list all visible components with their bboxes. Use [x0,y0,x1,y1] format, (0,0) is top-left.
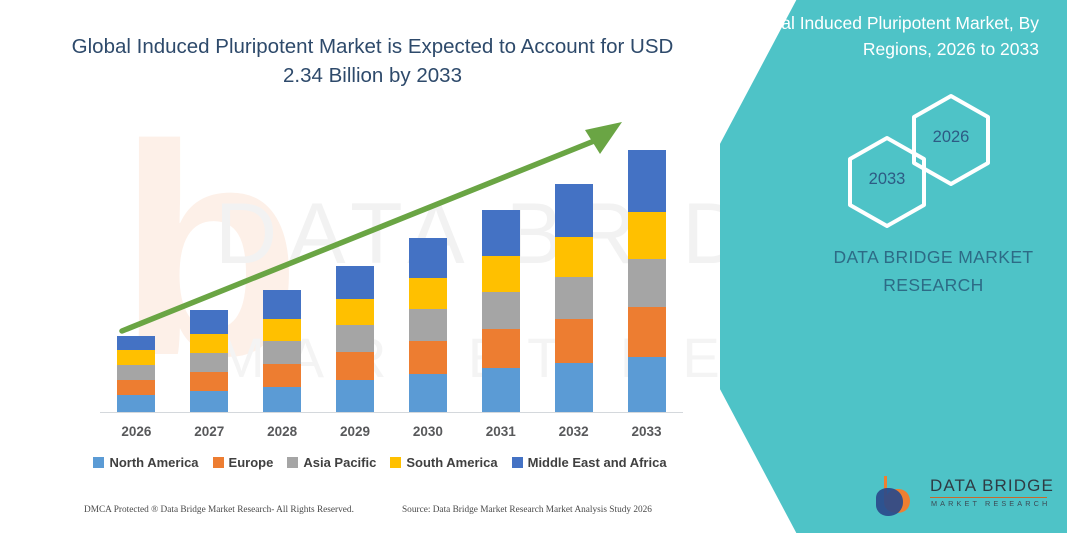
bar-2033 [628,150,666,412]
bar-segment [117,380,155,395]
bar-segment [336,352,374,380]
x-axis-label-2032: 2032 [538,424,610,439]
bar-segment [117,336,155,350]
panel-brand-line2: RESEARCH [883,275,983,295]
x-axis-label-2028: 2028 [246,424,318,439]
x-axis-label-2027: 2027 [173,424,245,439]
bar-segment [482,256,520,292]
x-axis-line [100,412,683,413]
bar-segment [482,368,520,412]
bar-segment [628,259,666,307]
x-axis-label-2030: 2030 [392,424,464,439]
legend-label: Middle East and Africa [528,455,667,470]
bar-segment [190,334,228,353]
bar-2032 [555,184,593,412]
x-axis-label-2031: 2031 [465,424,537,439]
bar-segment [555,184,593,237]
bar-segment [336,299,374,325]
footer-copyright: DMCA Protected ® Data Bridge Market Rese… [84,505,354,515]
legend-swatch-icon [512,457,523,468]
bar-segment [409,341,447,374]
hexagon-2033: 2033 [844,134,930,230]
bar-segment [409,238,447,278]
legend-label: North America [109,455,198,470]
legend-item-middle-east-and-africa[interactable]: Middle East and Africa [512,455,667,470]
legend-swatch-icon [390,457,401,468]
legend-label: Asia Pacific [303,455,376,470]
bar-segment [336,380,374,412]
hexagon-group: 2026 2033 [826,92,1026,222]
x-axis-label-2029: 2029 [319,424,391,439]
bar-segment [117,365,155,380]
bar-2028 [263,290,301,412]
bar-segment [117,350,155,365]
bar-2030 [409,238,447,412]
bar-segment [555,277,593,319]
bar-segment [336,266,374,299]
footer: DMCA Protected ® Data Bridge Market Rese… [0,505,720,523]
bar-segment [555,237,593,277]
bar-segment [190,353,228,372]
logo-name: DATA BRIDGE [930,476,1054,496]
logo-tagline: MARKET RESEARCH [931,499,1050,508]
bar-segment [190,391,228,412]
legend-swatch-icon [93,457,104,468]
legend-item-south-america[interactable]: South America [390,455,497,470]
hexagon-2033-label: 2033 [844,170,930,189]
bar-segment [263,290,301,319]
panel-brand-line1: DATA BRIDGE MARKET [833,247,1033,267]
bar-segment [409,278,447,309]
bar-segment [117,395,155,412]
legend-label: South America [406,455,497,470]
legend-swatch-icon [287,457,298,468]
x-axis-label-2026: 2026 [100,424,172,439]
panel-title: Global Induced Pluripotent Market, By Re… [739,10,1039,62]
bar-segment [190,310,228,334]
bar-segment [555,319,593,363]
dbmr-logo: DATA BRIDGE MARKET RESEARCH [872,472,1047,520]
bar-segment [555,363,593,412]
bar-2026 [117,336,155,412]
chart-legend: North AmericaEuropeAsia PacificSouth Ame… [0,455,760,470]
legend-label: Europe [229,455,274,470]
logo-mark-icon [872,472,924,520]
bar-segment [628,307,666,357]
logo-divider [930,497,1047,498]
x-axis-label-2033: 2033 [611,424,683,439]
bar-segment [263,364,301,387]
bar-segment [482,210,520,256]
footer-source: Source: Data Bridge Market Research Mark… [402,505,652,515]
bar-segment [628,150,666,212]
bar-segment [409,309,447,341]
bar-segment [409,374,447,412]
bar-2029 [336,266,374,412]
legend-item-asia-pacific[interactable]: Asia Pacific [287,455,376,470]
bar-segment [482,329,520,368]
legend-item-north-america[interactable]: North America [93,455,198,470]
bar-2031 [482,210,520,412]
bar-segment [263,319,301,341]
bar-segment [482,292,520,329]
bar-segment [190,372,228,391]
x-axis-labels: 20262027202820292030203120322033 [100,424,683,446]
bar-segment [628,212,666,259]
bar-segment [336,325,374,352]
bar-segment [263,341,301,364]
bar-2027 [190,310,228,412]
legend-swatch-icon [213,457,224,468]
bar-segment [263,387,301,412]
infographic-page: b DATA BRIDGE MARKET RESEARCH Global Ind… [0,0,1067,533]
legend-item-europe[interactable]: Europe [213,455,274,470]
chart-plot-area: 20262027202820292030203120322033 [0,0,760,420]
panel-brand: DATA BRIDGE MARKET RESEARCH [775,243,1067,299]
bar-segment [628,357,666,412]
